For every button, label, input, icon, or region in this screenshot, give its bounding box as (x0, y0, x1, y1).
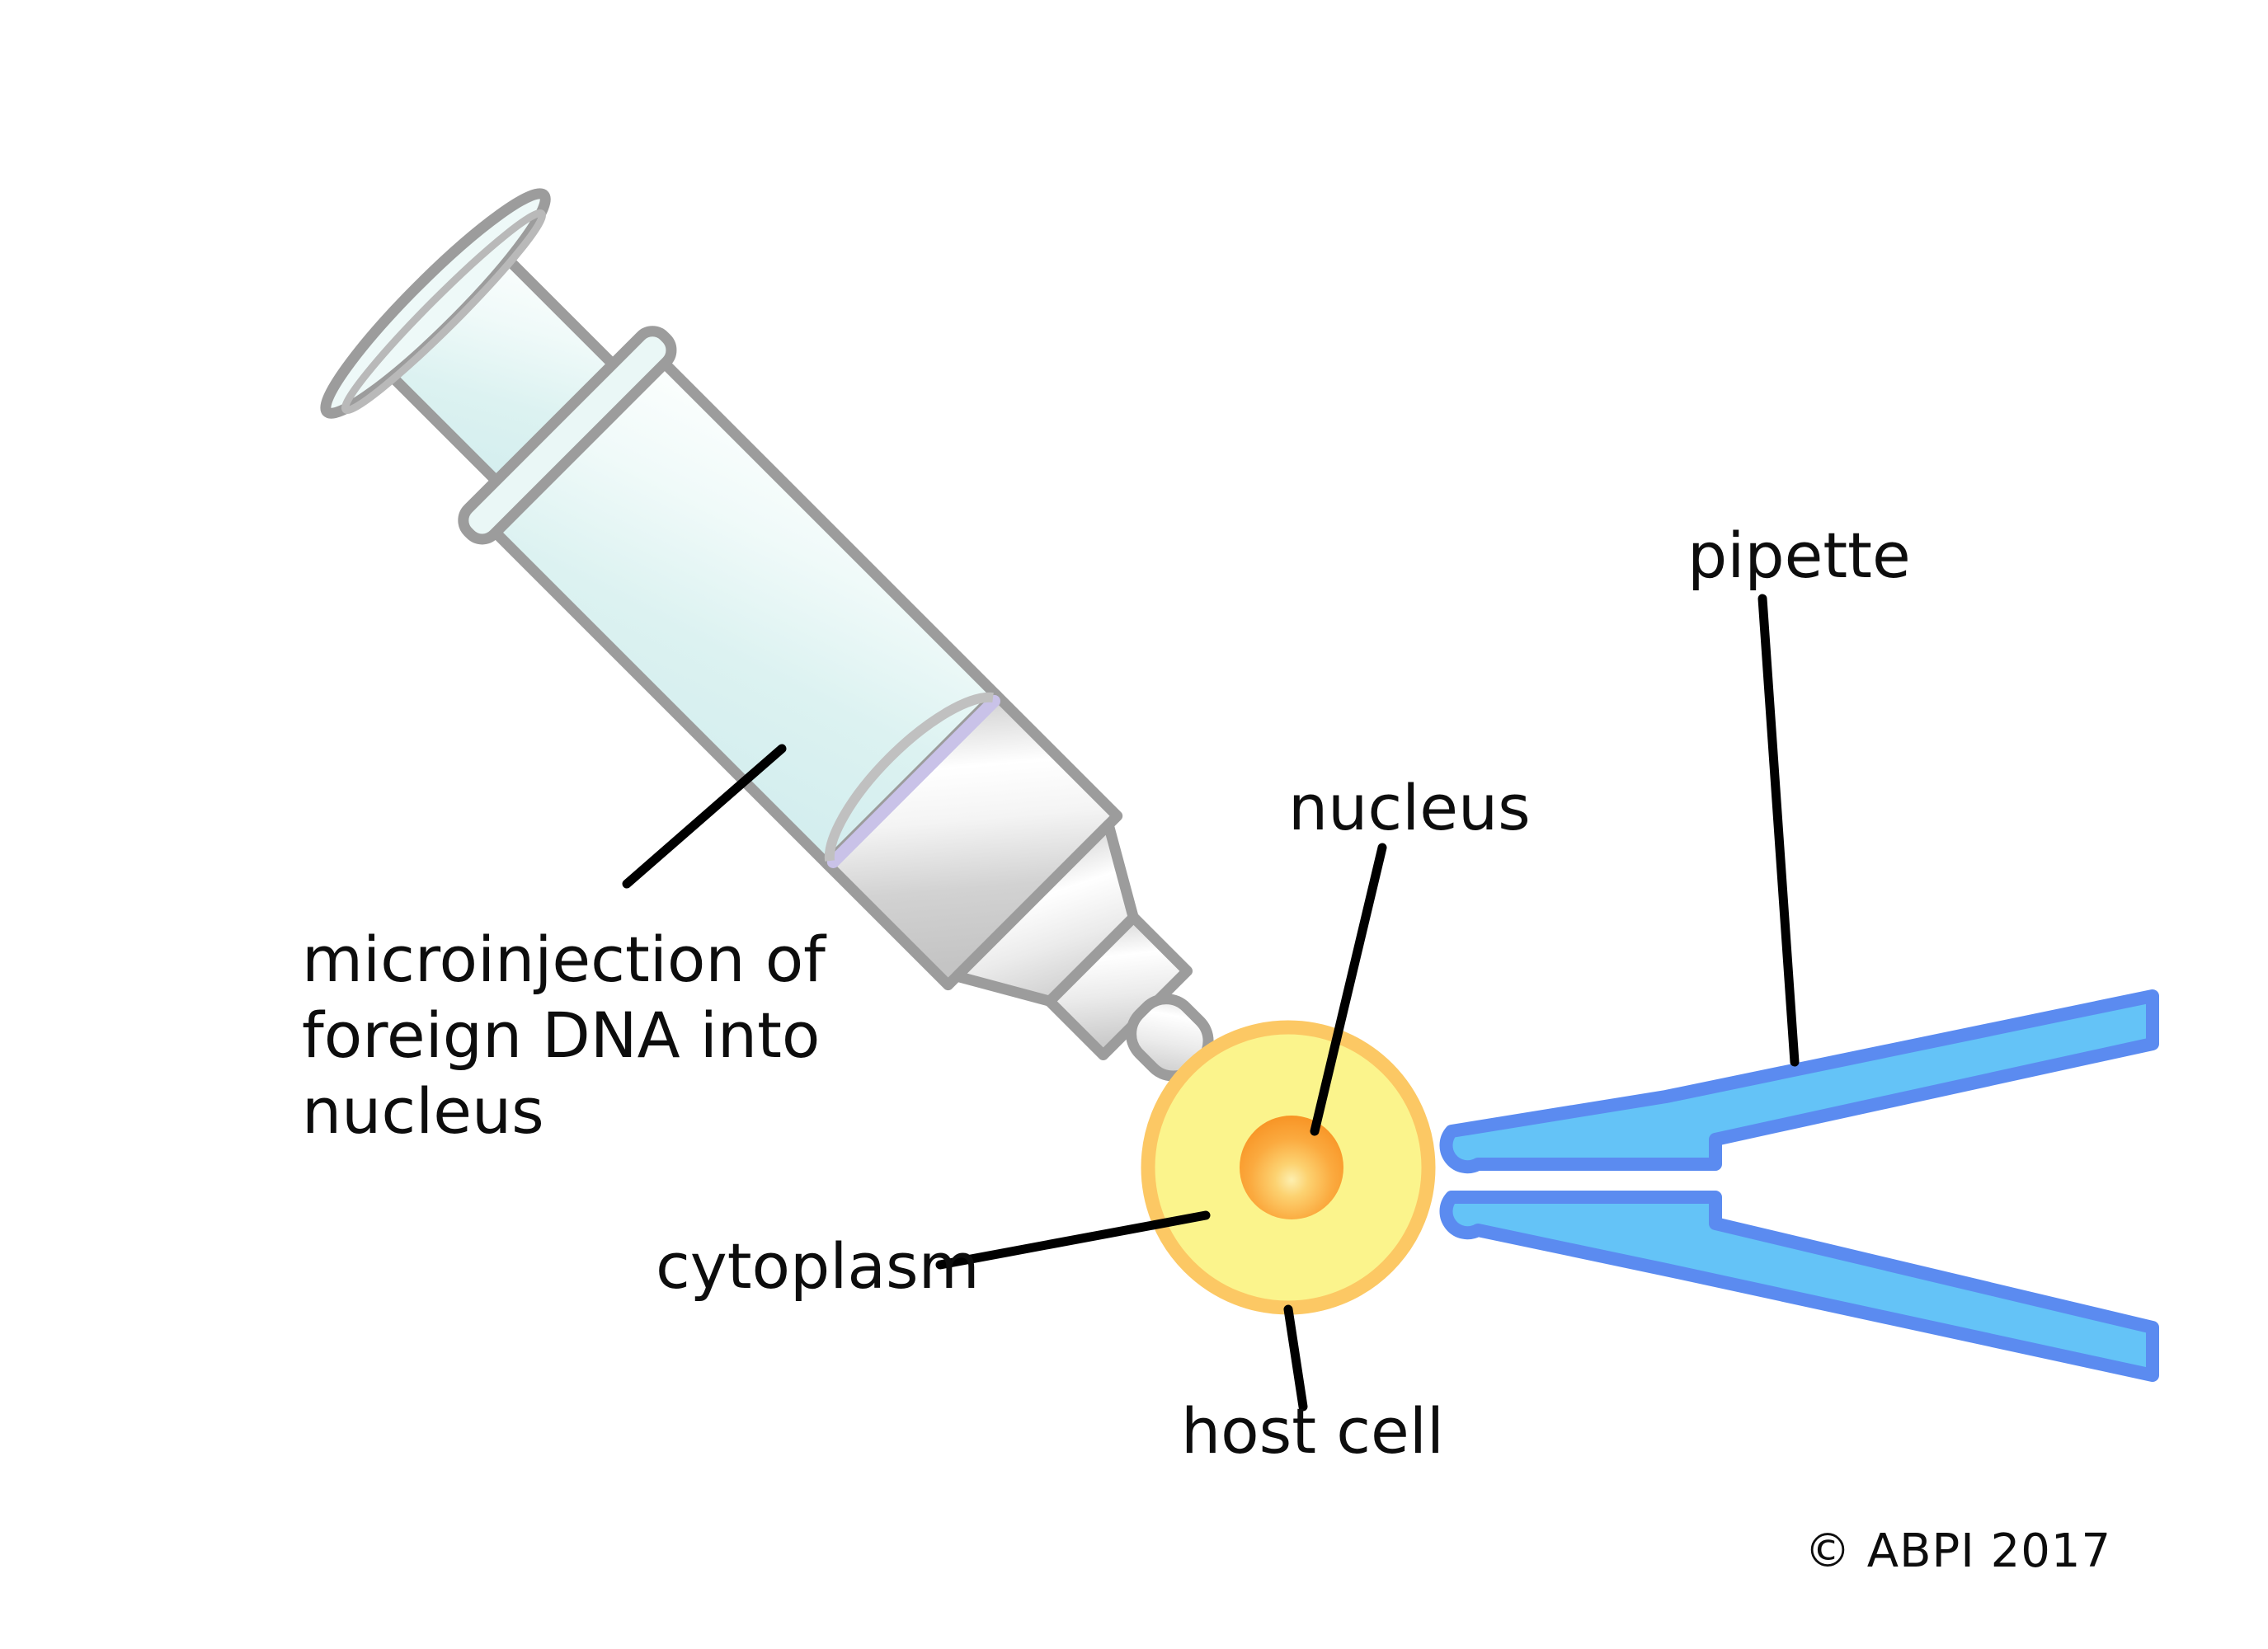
label-pipette: pipette (1687, 519, 1911, 592)
leader-host-cell (1288, 1309, 1303, 1407)
label-microinjection-line3: nucleus (302, 1074, 544, 1148)
label-microinjection-line2: foreign DNA into (302, 998, 820, 1072)
pipette-prong-upper (1446, 996, 2153, 1167)
copyright-notice: © ABPI 2017 (1805, 1525, 2111, 1578)
pipette-prong-lower (1446, 1197, 2153, 1375)
diagram-canvas: microinjection of foreign DNA into nucle… (0, 0, 2268, 1649)
nucleus-circle (1240, 1116, 1343, 1219)
microinjection-diagram: microinjection of foreign DNA into nucle… (0, 0, 2268, 1649)
label-microinjection-line1: microinjection of (302, 923, 827, 996)
host-cell-group (1148, 1027, 1428, 1308)
pipette-group (1446, 996, 2153, 1375)
leader-pipette (1762, 599, 1795, 1062)
label-cytoplasm: cytoplasm (656, 1229, 980, 1303)
label-microinjection: microinjection of foreign DNA into nucle… (302, 923, 845, 1148)
label-host-cell: host cell (1181, 1394, 1444, 1468)
leader-microinjection (627, 749, 782, 884)
label-nucleus: nucleus (1288, 771, 1531, 844)
